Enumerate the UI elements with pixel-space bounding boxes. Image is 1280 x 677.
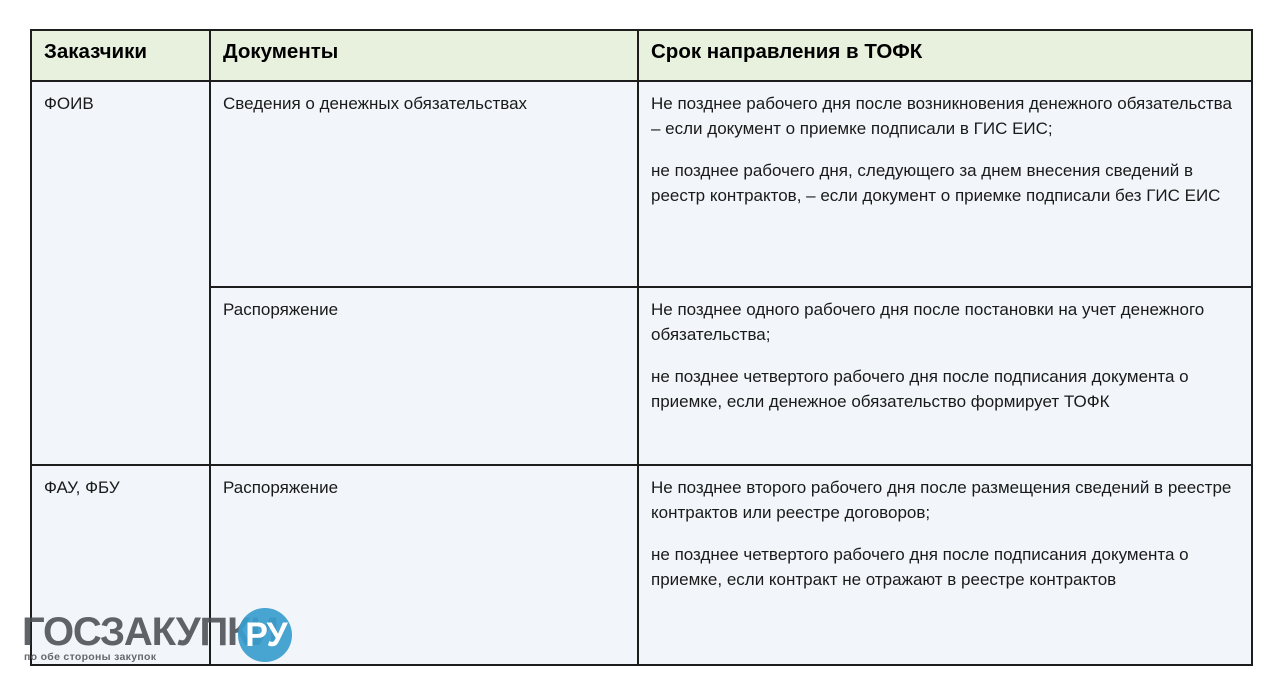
cell-deadline-rasporyazhenie-foiv: Не позднее одного рабочего дня после пос…: [638, 287, 1252, 465]
page-canvas: Заказчики Документы Срок направления в Т…: [0, 0, 1280, 677]
cell-deadline-svedeniya: Не позднее рабочего дня после возникнове…: [638, 81, 1252, 287]
column-header-deadline: Срок направления в ТОФК: [638, 30, 1252, 81]
table-header: Заказчики Документы Срок направления в Т…: [31, 30, 1252, 81]
deadline-paragraph: Не позднее второго рабочего дня после ра…: [651, 476, 1239, 525]
cell-document-rasporyazhenie-foiv: Распоряжение: [210, 287, 638, 465]
deadlines-table: Заказчики Документы Срок направления в Т…: [30, 29, 1253, 666]
table-row: ФОИВ Сведения о денежных обязательствах …: [31, 81, 1252, 287]
deadlines-table-container: Заказчики Документы Срок направления в Т…: [30, 29, 1251, 666]
table-header-row: Заказчики Документы Срок направления в Т…: [31, 30, 1252, 81]
cell-document-rasporyazhenie-fau: Распоряжение: [210, 465, 638, 665]
table-row: ФАУ, ФБУ Распоряжение Не позднее второго…: [31, 465, 1252, 665]
cell-deadline-rasporyazhenie-fau: Не позднее второго рабочего дня после ра…: [638, 465, 1252, 665]
table-row: Распоряжение Не позднее одного рабочего …: [31, 287, 1252, 465]
column-header-documents: Документы: [210, 30, 638, 81]
table-body: ФОИВ Сведения о денежных обязательствах …: [31, 81, 1252, 665]
cell-document-svedeniya: Сведения о денежных обязательствах: [210, 81, 638, 287]
cell-customer-foiv: ФОИВ: [31, 81, 210, 465]
deadline-paragraph: не позднее четвертого рабочего дня после…: [651, 365, 1239, 414]
deadline-paragraph: не позднее четвертого рабочего дня после…: [651, 543, 1239, 592]
deadline-paragraph: не позднее рабочего дня, следующего за д…: [651, 159, 1239, 208]
deadline-paragraph: Не позднее одного рабочего дня после пос…: [651, 298, 1239, 347]
deadline-paragraph: Не позднее рабочего дня после возникнове…: [651, 92, 1239, 141]
cell-customer-fau-fbu: ФАУ, ФБУ: [31, 465, 210, 665]
column-header-customers: Заказчики: [31, 30, 210, 81]
